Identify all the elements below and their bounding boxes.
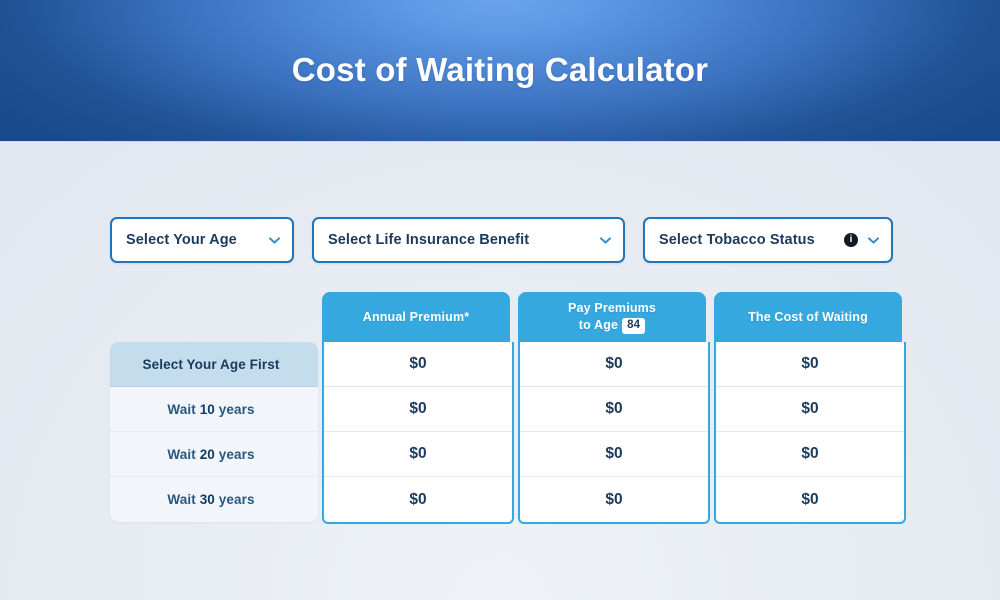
select-tobacco-status-dropdown[interactable]: Select Tobacco Status i: [643, 217, 893, 263]
table-cell: $0: [520, 387, 708, 432]
calculator-page: Cost of Waiting Calculator Select Your A…: [0, 0, 1000, 600]
select-life-insurance-benefit-label: Select Life Insurance Benefit: [328, 232, 592, 248]
row-label-number: 20: [200, 447, 215, 462]
row-label-number: 30: [200, 492, 215, 507]
row-label-prefix: Wait: [167, 402, 195, 417]
results-table: Select Your Age First Wait 10 years Wait…: [110, 292, 906, 524]
table-cell: $0: [324, 477, 512, 522]
table-cell: $0: [716, 387, 904, 432]
table-row-label: Select Your Age First: [110, 342, 318, 387]
row-label-column: Select Your Age First Wait 10 years Wait…: [110, 342, 318, 522]
column-annual-premium: Annual Premium* $0 $0 $0 $0: [322, 292, 514, 524]
select-benefit-adornments: [600, 237, 611, 244]
column-body-annual-premium: $0 $0 $0 $0: [322, 342, 514, 524]
table-cell: $0: [324, 432, 512, 477]
chevron-down-icon[interactable]: [868, 237, 879, 244]
column-body-pay-premiums-to-age: $0 $0 $0 $0: [518, 342, 710, 524]
column-body-cost-of-waiting: $0 $0 $0 $0: [714, 342, 906, 524]
info-icon[interactable]: i: [844, 233, 858, 247]
table-cell: $0: [520, 342, 708, 387]
table-cell: $0: [520, 432, 708, 477]
select-tobacco-adornments: i: [844, 233, 879, 247]
table-cell: $0: [520, 477, 708, 522]
column-pay-premiums-to-age: Pay Premiums to Age84 $0 $0 $0 $0: [518, 292, 710, 524]
select-your-age-adornments: [269, 237, 280, 244]
column-header-label: The Cost of Waiting: [748, 309, 868, 326]
row-label-prefix: Select Your Age First: [143, 357, 280, 372]
table-cell: $0: [324, 342, 512, 387]
column-header-cost-of-waiting: The Cost of Waiting: [714, 292, 902, 342]
row-label-number: 10: [200, 402, 215, 417]
table-cell: $0: [716, 432, 904, 477]
page-title: Cost of Waiting Calculator: [0, 49, 1000, 91]
table-row-label: Wait 30 years: [110, 477, 318, 522]
column-header-label: Annual Premium*: [363, 309, 469, 326]
row-label-prefix: Wait: [167, 492, 195, 507]
select-life-insurance-benefit-dropdown[interactable]: Select Life Insurance Benefit: [312, 217, 625, 263]
row-label-suffix: years: [219, 402, 255, 417]
select-your-age-dropdown[interactable]: Select Your Age: [110, 217, 294, 263]
table-cell: $0: [716, 477, 904, 522]
table-cell: $0: [324, 387, 512, 432]
row-label-prefix: Wait: [167, 447, 195, 462]
age-input-badge[interactable]: 84: [622, 318, 645, 334]
select-your-age-label: Select Your Age: [126, 232, 261, 248]
row-label-suffix: years: [219, 447, 255, 462]
chevron-down-icon[interactable]: [269, 237, 280, 244]
column-header-line2: to Age84: [579, 317, 645, 334]
column-header-label-line1: Pay Premiums: [568, 300, 656, 317]
table-row-label: Wait 10 years: [110, 387, 318, 432]
column-cost-of-waiting: The Cost of Waiting $0 $0 $0 $0: [714, 292, 906, 524]
page-header: Cost of Waiting Calculator: [0, 0, 1000, 141]
selector-row: Select Your Age Select Life Insurance Be…: [110, 217, 893, 263]
row-label-suffix: years: [219, 492, 255, 507]
table-cell: $0: [716, 342, 904, 387]
chevron-down-icon[interactable]: [600, 237, 611, 244]
table-row-label: Wait 20 years: [110, 432, 318, 477]
column-header-annual-premium: Annual Premium*: [322, 292, 510, 342]
column-header-label-line2: to Age: [579, 318, 618, 332]
column-header-pay-premiums-to-age: Pay Premiums to Age84: [518, 292, 706, 342]
select-tobacco-status-label: Select Tobacco Status: [659, 232, 836, 248]
